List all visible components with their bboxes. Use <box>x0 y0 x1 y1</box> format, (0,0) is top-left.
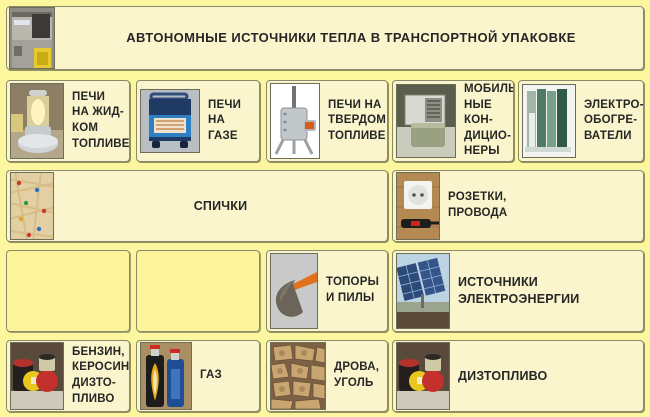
cell-label: ПЕЧИ НА ГАЗЕ <box>200 81 259 161</box>
cell-label: СПИЧКИ <box>54 171 387 241</box>
cell-gas-canisters: ГАЗ <box>136 340 260 412</box>
cell-gas-stoves: ПЕЧИ НА ГАЗЕ <box>136 80 260 162</box>
cell-electric-heaters: ЭЛЕКТРО- ОБОГРЕ- ВАТЕЛИ <box>518 80 644 162</box>
cell-label: БЕНЗИН, КЕРОСИН, ДИЗТО- ПЛИВО <box>64 341 130 411</box>
electric-radiator-photo <box>522 84 576 158</box>
cell-blank-left <box>6 250 130 332</box>
fuel-barrels-photo <box>10 342 64 410</box>
heater-in-transport-crate-photo <box>9 7 55 69</box>
cell-solid-fuel-stoves: ПЕЧИ НА ТВЕРДОМ ТОПЛИВЕ <box>266 80 388 162</box>
cell-label: ЭЛЕКТРО- ОБОГРЕ- ВАТЕЛИ <box>576 81 644 161</box>
cell-label: ИСТОЧНИКИ ЭЛЕКТРОЭНЕРГИИ <box>450 251 643 331</box>
firewood-photo <box>270 342 326 410</box>
cell-power-sources: ИСТОЧНИКИ ЭЛЕКТРОЭНЕРГИИ <box>392 250 644 332</box>
cell-label: РОЗЕТКИ, ПРОВОДА <box>440 171 643 241</box>
cell-blank-middle <box>136 250 260 332</box>
cell-label: ПЕЧИ НА ЖИД- КОМ ТОПЛИВЕ <box>64 81 130 161</box>
power-socket-photo <box>396 172 440 240</box>
cell-label: ДИЗТОПЛИВО <box>450 341 643 411</box>
cell-label: ПЕЧИ НА ТВЕРДОМ ТОПЛИВЕ <box>320 81 388 161</box>
cell-label: МОБИЛЬ- НЫЕ КОН- ДИЦИО- НЕРЫ <box>456 81 514 161</box>
matches-photo <box>10 172 54 240</box>
gas-heater-photo <box>140 89 200 153</box>
cell-diesel-fuel: ДИЗТОПЛИВО <box>392 340 644 412</box>
cell-matches: СПИЧКИ <box>6 170 388 242</box>
cell-firewood-coal: ДРОВА, УГОЛЬ <box>266 340 388 412</box>
axe-photo <box>270 253 318 329</box>
diagram-board: АВТОНОМНЫЕ ИСТОЧНИКИ ТЕПЛА В ТРАНСПОРТНО… <box>0 0 650 417</box>
wood-burning-stove-photo <box>270 83 320 159</box>
solar-panel-photo <box>396 253 450 329</box>
diesel-barrels-photo <box>396 342 450 410</box>
mobile-air-conditioner-photo <box>396 84 456 158</box>
cell-label: ДРОВА, УГОЛЬ <box>326 341 387 411</box>
cell-petrol-kerosene-diesel: БЕНЗИН, КЕРОСИН, ДИЗТО- ПЛИВО <box>6 340 130 412</box>
cell-sockets-wires: РОЗЕТКИ, ПРОВОДА <box>392 170 644 242</box>
cell-label: ГАЗ <box>192 341 259 411</box>
header-cell: АВТОНОМНЫЕ ИСТОЧНИКИ ТЕПЛА В ТРАНСПОРТНО… <box>6 6 644 70</box>
gas-canisters-photo <box>140 342 192 410</box>
kerosene-heater-photo <box>10 83 64 159</box>
cell-label: ТОПОРЫ И ПИЛЫ <box>318 251 387 331</box>
cell-mobile-air-conditioners: МОБИЛЬ- НЫЕ КОН- ДИЦИО- НЕРЫ <box>392 80 514 162</box>
cell-axes-saws: ТОПОРЫ И ПИЛЫ <box>266 250 388 332</box>
header-title: АВТОНОМНЫЕ ИСТОЧНИКИ ТЕПЛА В ТРАНСПОРТНО… <box>55 7 643 69</box>
cell-liquid-fuel-stoves: ПЕЧИ НА ЖИД- КОМ ТОПЛИВЕ <box>6 80 130 162</box>
